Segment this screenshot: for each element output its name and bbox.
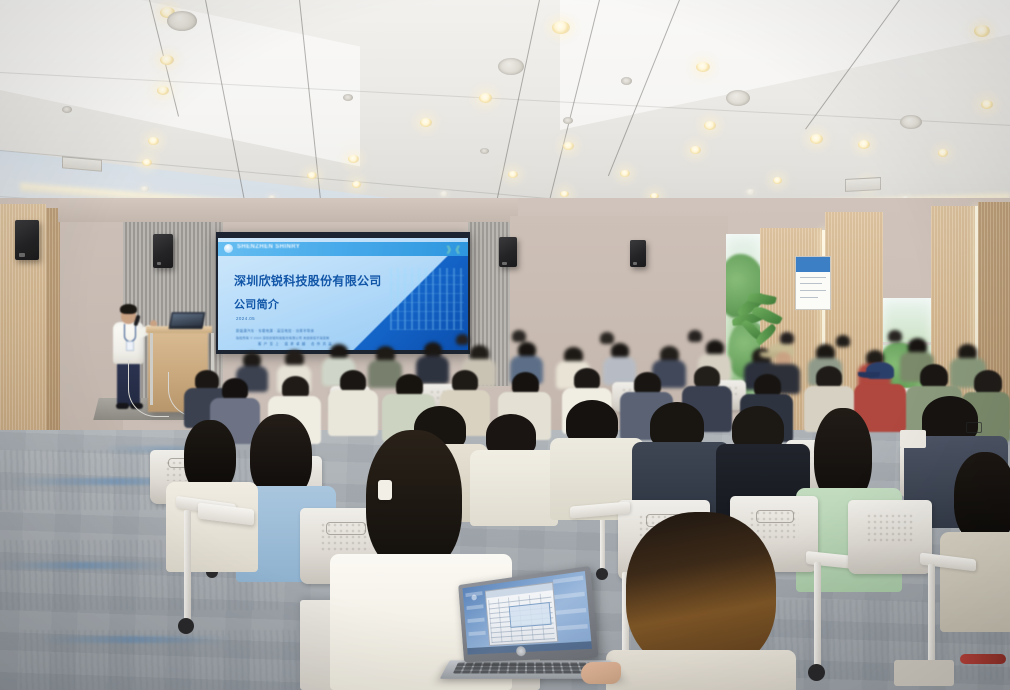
notebook[interactable]: [894, 660, 954, 686]
attendee-hair: [626, 512, 776, 672]
paper-sheet[interactable]: [900, 430, 926, 448]
wall-speaker-icon: [153, 234, 173, 268]
wall-speaker-icon: [499, 237, 517, 267]
spreadsheet-window[interactable]: [485, 582, 559, 646]
smoke-detector-icon: [62, 106, 72, 113]
presenter-hair: [120, 304, 137, 314]
slide-surface: SHENZHEN SHINRY 》《 深圳欣锐科技股份有限公司 公司简介 202…: [218, 238, 468, 350]
desktop-icons[interactable]: [465, 591, 486, 645]
wall-speaker-icon: [15, 220, 39, 260]
slide-subtitle: 公司简介: [234, 296, 279, 312]
foreground-laptop[interactable]: [445, 576, 615, 690]
slide-corner-mark: 》《: [446, 243, 460, 256]
ceiling-speaker-icon: [726, 90, 750, 106]
company-logo-icon: [224, 244, 233, 253]
ceiling-speaker-icon: [167, 11, 197, 31]
podium-laptop: [169, 312, 206, 329]
ceiling-speaker-icon: [900, 115, 922, 129]
red-pen[interactable]: [960, 654, 1006, 664]
attendee-hand: [581, 662, 621, 684]
ceiling-speaker-icon: [498, 58, 524, 75]
smoke-detector-icon: [563, 117, 573, 124]
smoke-detector-icon: [621, 77, 632, 85]
laptop-lid: [458, 566, 598, 662]
smoke-detector-icon: [480, 148, 489, 154]
smoke-detector-icon: [343, 94, 353, 101]
slide-footer: 客户至上 追求卓越 合作共赢: [258, 341, 334, 346]
wall-notice-poster: [795, 256, 831, 310]
slide-circuit-illustration: [390, 268, 464, 330]
slide-logo-text: SHENZHEN SHINRY: [237, 244, 300, 250]
slide-title: 深圳欣锐科技股份有限公司: [234, 272, 382, 289]
spreadsheet-selection[interactable]: [509, 602, 552, 628]
laptop-screen[interactable]: [463, 571, 592, 655]
slide-fine-line-2: 版权所有 © 2024 深圳欣锐科技股份有限公司 未经授权不得复制: [236, 335, 329, 340]
presenter-lanyard: [124, 324, 136, 342]
presenter-badge: [126, 341, 134, 351]
water-bottle[interactable]: [378, 480, 392, 500]
laptop-brand-logo-icon: [516, 646, 526, 656]
slide-date: 2024.05: [236, 316, 255, 321]
slide-fine-line-1: 新能源汽车 · 车载电源 · 高压电控 · 功率半导体: [236, 328, 314, 333]
presenter-shoe: [116, 403, 129, 409]
projection-screen: SHENZHEN SHINRY 》《 深圳欣锐科技股份有限公司 公司简介 202…: [216, 232, 470, 354]
poster-header: [796, 257, 830, 272]
glasses-icon: [966, 422, 982, 433]
conference-room-photo: SHENZHEN SHINRY 》《 深圳欣锐科技股份有限公司 公司简介 202…: [0, 0, 1010, 690]
wall-speaker-icon: [630, 240, 646, 267]
desktop-icons-right[interactable]: [553, 576, 589, 642]
ceiling-vent: [845, 177, 881, 192]
